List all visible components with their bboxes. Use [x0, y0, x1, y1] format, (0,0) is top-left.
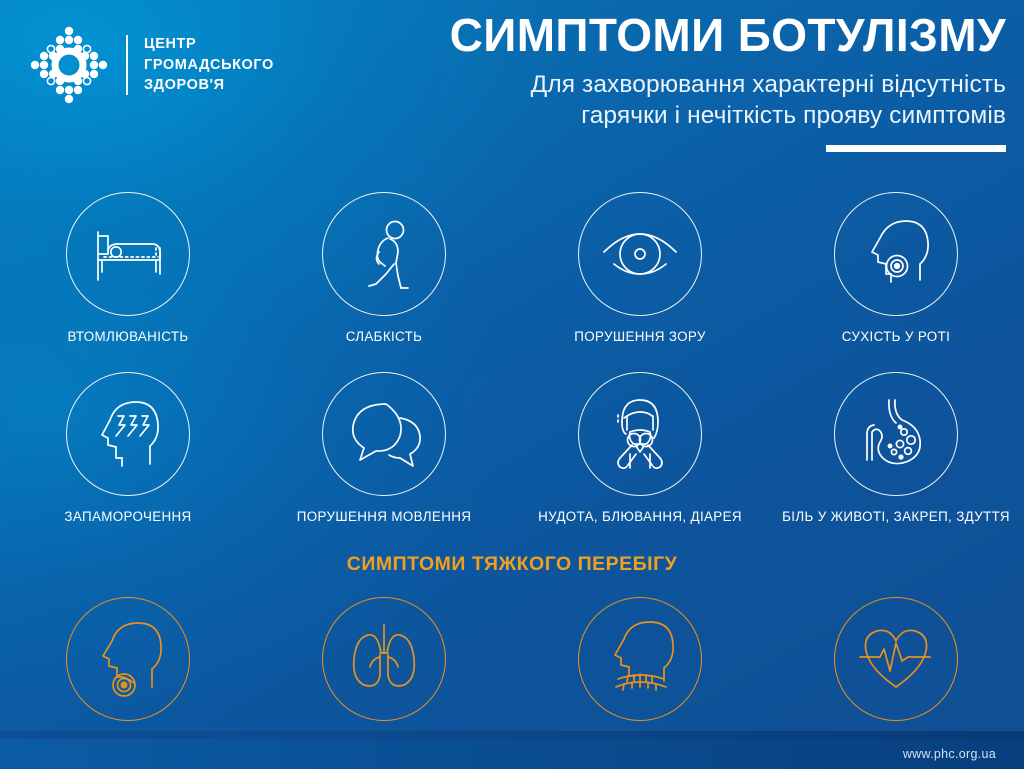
- symptom-item-vision: ПОРУШЕННЯ ЗОРУ: [512, 192, 768, 344]
- severe-section-heading: СИМПТОМИ ТЯЖКОГО ПЕРЕБІГУ: [0, 553, 1024, 576]
- footer-website-url[interactable]: www.phc.org.ua: [903, 747, 1024, 761]
- speech-bubbles-icon: [322, 372, 446, 496]
- symptom-item-dry-mouth: СУХІСТЬ У РОТІ: [768, 192, 1024, 344]
- heart-pulse-icon: [834, 597, 958, 721]
- head-dizziness-icon: [66, 372, 190, 496]
- symptom-item-breathing: УТРУДНЕННЯ ДИХАННЯ: [256, 597, 512, 749]
- symptom-label: СЛАБКІСТЬ: [346, 329, 423, 344]
- brand-name-line-1: ЦЕНТР: [144, 34, 274, 55]
- page-subtitle-line-1: Для захворювання характерні відсутність: [366, 69, 1006, 100]
- page-title: СИМПТОМИ БОТУЛІЗМУ: [366, 12, 1006, 60]
- brand-name-line-3: ЗДОРОВ'Я: [144, 75, 274, 96]
- symptom-row-common-1: ВТОМЛЮВАНІСТЬ СЛАБКІСТЬ: [0, 192, 1024, 344]
- symptom-item-dizziness: ЗАПАМОРОЧЕННЯ: [0, 372, 256, 524]
- symptom-item-abdominal: БІЛЬ У ЖИВОТІ, ЗАКРЕП, ЗДУТТЯ: [768, 372, 1024, 524]
- title-block: СИМПТОМИ БОТУЛІЗМУ Для захворювання хара…: [366, 12, 1006, 152]
- header: ЦЕНТР ГРОМАДСЬКОГО ЗДОРОВ'Я СИМПТОМИ БОТ…: [0, 0, 1024, 172]
- brand-name: ЦЕНТР ГРОМАДСЬКОГО ЗДОРОВ'Я: [144, 34, 274, 96]
- nausea-person-icon: [578, 372, 702, 496]
- symptom-row-severe: ПОРУШЕННЯ КОВТАННЯ УТРУДНЕННЯ ДИХАННЯ: [0, 597, 1024, 749]
- brand-name-line-2: ГРОМАДСЬКОГО: [144, 55, 274, 76]
- symptom-label: ПОРУШЕННЯ МОВЛЕННЯ: [297, 509, 472, 524]
- footer-strip: [0, 731, 1024, 739]
- bed-icon: [66, 192, 190, 316]
- symptom-label: НУДОТА, БЛЮВАННЯ, ДІАРЕЯ: [538, 509, 742, 524]
- logo-divider: [126, 35, 128, 95]
- symptom-item-weakness: СЛАБКІСТЬ: [256, 192, 512, 344]
- brand-logo-block: ЦЕНТР ГРОМАДСЬКОГО ЗДОРОВ'Я: [22, 18, 274, 112]
- head-dry-mouth-icon: [834, 192, 958, 316]
- page-subtitle: Для захворювання характерні відсутність …: [366, 69, 1006, 132]
- stomach-icon: [834, 372, 958, 496]
- symptom-item-fatigue: ВТОМЛЮВАНІСТЬ: [0, 192, 256, 344]
- symptom-label: ЗАПАМОРОЧЕННЯ: [64, 509, 191, 524]
- symptom-row-common-2: ЗАПАМОРОЧЕННЯ ПОРУШЕННЯ МОВЛЕННЯ: [0, 372, 1024, 524]
- page-subtitle-line-2: гарячки і нечіткість прояву симптомів: [366, 100, 1006, 131]
- symptom-item-swallowing: ПОРУШЕННЯ КОВТАННЯ: [0, 597, 256, 749]
- lungs-icon: [322, 597, 446, 721]
- symptom-label: ВТОМЛЮВАНІСТЬ: [67, 329, 188, 344]
- symptom-label: ПОРУШЕННЯ ЗОРУ: [574, 329, 706, 344]
- phc-dots-logo-icon: [22, 18, 116, 112]
- title-underline: [826, 145, 1006, 152]
- footer: www.phc.org.ua: [0, 739, 1024, 769]
- symptom-item-speech: ПОРУШЕННЯ МОВЛЕННЯ: [256, 372, 512, 524]
- symptom-label: СУХІСТЬ У РОТІ: [842, 329, 950, 344]
- walking-person-icon: [322, 192, 446, 316]
- symptom-item-air-hunger: ВІДЧУТТЯ НЕСТАЧІ ПОВІТРЯ: [512, 597, 768, 749]
- eye-icon: [578, 192, 702, 316]
- symptom-item-nausea: НУДОТА, БЛЮВАННЯ, ДІАРЕЯ: [512, 372, 768, 524]
- head-air-hunger-icon: [578, 597, 702, 721]
- symptom-label: БІЛЬ У ЖИВОТІ, ЗАКРЕП, ЗДУТТЯ: [782, 509, 1010, 524]
- head-throat-icon: [66, 597, 190, 721]
- symptom-item-tachycardia: ТАХІКАРДІЯ: [768, 597, 1024, 749]
- infographic-poster: ЦЕНТР ГРОМАДСЬКОГО ЗДОРОВ'Я СИМПТОМИ БОТ…: [0, 0, 1024, 769]
